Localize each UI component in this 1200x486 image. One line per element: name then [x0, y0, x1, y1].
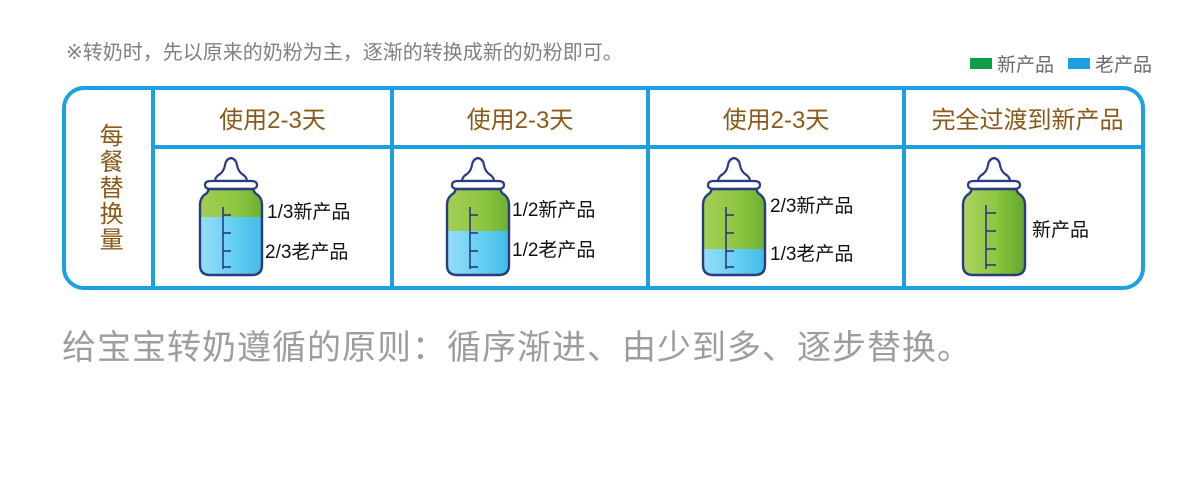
square-swatch-icon [970, 58, 992, 69]
legend-item-new: 新产品 [970, 50, 1054, 77]
column-body-1: 1/3新产品 2/3老产品 [155, 149, 390, 290]
bottle-2-old-label: 1/2老产品 [512, 241, 595, 260]
column-header-3: 使用2-3天 [650, 90, 902, 145]
legend-item-old: 老产品 [1068, 50, 1152, 77]
legend: 新产品 老产品 [970, 50, 1152, 77]
column-body-4: 新产品 [906, 149, 1149, 290]
row-label: 每餐替换量 [66, 90, 151, 286]
baby-bottle-icon [946, 153, 1042, 283]
bottle-2-new-label: 1/2新产品 [512, 201, 595, 220]
column-header-2: 使用2-3天 [394, 90, 646, 145]
column-header-4: 完全过渡到新产品 [906, 90, 1149, 145]
bottle-1-new-label: 1/3新产品 [267, 203, 350, 222]
column-body-3: 2/3新产品 1/3老产品 [650, 149, 902, 290]
legend-label-new: 新产品 [997, 50, 1054, 77]
bottle-3-old-label: 1/3老产品 [770, 245, 853, 264]
bottle-3-new-label: 2/3新产品 [770, 197, 853, 216]
transition-table: 每餐替换量 使用2-3天 使用2-3天 使用2-3天 完全过渡到新产品 [62, 86, 1145, 290]
square-swatch-icon [1068, 58, 1090, 69]
bottle-4 [946, 153, 1042, 283]
baby-bottle-icon [686, 153, 782, 283]
baby-bottle-icon [183, 153, 279, 283]
bottom-caption: 给宝宝转奶遵循的原则：循序渐进、由少到多、逐步替换。 [62, 320, 972, 369]
top-note: ※转奶时，先以原来的奶粉为主，逐渐的转换成新的奶粉即可。 [66, 36, 623, 65]
bottle-1 [183, 153, 279, 283]
row-label-text: 每餐替换量 [96, 123, 121, 253]
bottle-4-new-label: 新产品 [1032, 221, 1089, 240]
column-header-1: 使用2-3天 [155, 90, 390, 145]
bottle-1-old-label: 2/3老产品 [265, 243, 348, 262]
bottle-3 [686, 153, 782, 283]
column-body-2: 1/2新产品 1/2老产品 [394, 149, 646, 290]
legend-label-old: 老产品 [1095, 50, 1152, 77]
